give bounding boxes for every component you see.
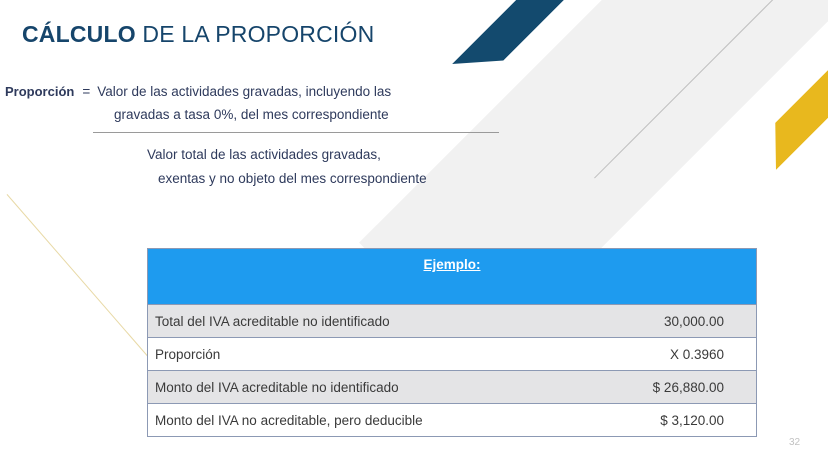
row-value: $ 26,880.00 bbox=[452, 371, 756, 404]
row-label: Monto del IVA acreditable no identificad… bbox=[148, 371, 452, 404]
row-value: $ 3,120.00 bbox=[452, 404, 756, 437]
gold-chevron-decoration bbox=[752, 40, 828, 170]
navy-chevron-decoration bbox=[452, 0, 582, 88]
formula-numerator-line2: gravadas a tasa 0%, del mes correspondie… bbox=[114, 107, 560, 122]
slide-canvas: CÁLCULO DE LA PROPORCIÓN Proporción = Va… bbox=[0, 0, 828, 466]
example-table-body: Total del IVA acreditable no identificad… bbox=[148, 305, 756, 437]
formula-numerator-line1: Valor de las actividades gravadas, inclu… bbox=[97, 84, 391, 99]
table-row: Proporción X 0.3960 bbox=[148, 338, 756, 371]
table-header-cell: Ejemplo: bbox=[148, 249, 756, 305]
page-title-strong: CÁLCULO bbox=[22, 21, 136, 47]
row-value: X 0.3960 bbox=[452, 338, 756, 371]
table-row: Monto del IVA no acreditable, pero deduc… bbox=[148, 404, 756, 437]
formula-equals-sign: = bbox=[74, 84, 97, 99]
row-label: Proporción bbox=[148, 338, 452, 371]
formula-denominator-line2: exentas y no objeto del mes correspondie… bbox=[158, 171, 560, 186]
gray-hairline-decoration bbox=[594, 0, 807, 178]
table-header-row: Ejemplo: bbox=[148, 249, 756, 305]
formula-label: Proporción bbox=[0, 84, 74, 99]
table-row: Total del IVA acreditable no identificad… bbox=[148, 305, 756, 338]
table-header-label: Ejemplo: bbox=[423, 257, 480, 272]
example-table: Ejemplo: Total del IVA acreditable no id… bbox=[148, 249, 756, 436]
page-title: CÁLCULO DE LA PROPORCIÓN bbox=[22, 21, 374, 48]
slide-page-number: 32 bbox=[789, 437, 800, 448]
formula-first-line: Proporción = Valor de las actividades gr… bbox=[0, 84, 560, 99]
page-title-light: DE LA PROPORCIÓN bbox=[136, 21, 375, 47]
row-value: 30,000.00 bbox=[452, 305, 756, 338]
row-label: Monto del IVA no acreditable, pero deduc… bbox=[148, 404, 452, 437]
proportion-formula: Proporción = Valor de las actividades gr… bbox=[0, 84, 560, 186]
row-label: Total del IVA acreditable no identificad… bbox=[148, 305, 452, 338]
gold-hairline-decoration bbox=[7, 194, 149, 357]
table-row: Monto del IVA acreditable no identificad… bbox=[148, 371, 756, 404]
example-table-container: Ejemplo: Total del IVA acreditable no id… bbox=[147, 248, 757, 437]
fraction-bar bbox=[93, 132, 499, 133]
example-table-head: Ejemplo: bbox=[148, 249, 756, 305]
formula-denominator-line1: Valor total de las actividades gravadas, bbox=[147, 147, 560, 162]
